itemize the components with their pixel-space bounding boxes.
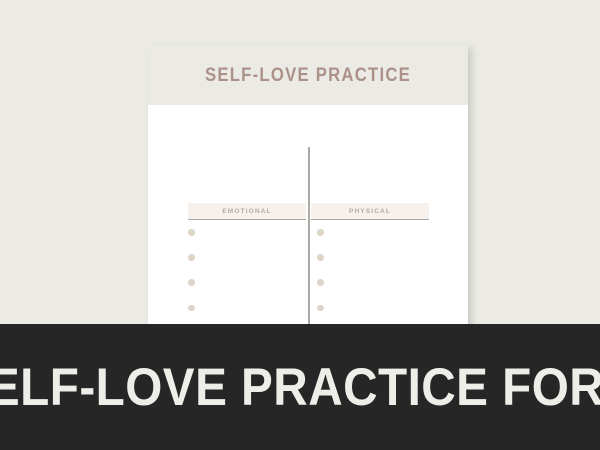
bullet-dot xyxy=(317,229,324,236)
section-rule-emotional xyxy=(188,219,306,220)
bullet-dot xyxy=(317,305,324,312)
section-emotional: EMOTIONAL xyxy=(188,203,306,220)
section-physical: PHYSICAL xyxy=(311,203,429,220)
bullet-dot xyxy=(188,254,195,261)
bullet-dot xyxy=(188,229,195,236)
column-divider xyxy=(308,147,310,335)
section-header-band-emotional: EMOTIONAL xyxy=(188,203,306,219)
section-rule-physical xyxy=(311,219,429,220)
bullet-dot xyxy=(317,279,324,286)
banner-title: SELF-LOVE PRACTICE FORM xyxy=(30,324,570,450)
worksheet-card: SELF-LOVE PRACTICE EMOTIONAL PHYSICAL xyxy=(148,45,468,335)
bullet-dot xyxy=(188,279,195,286)
page-stage: SELF-LOVE PRACTICE EMOTIONAL PHYSICAL xyxy=(0,0,600,450)
bullet-list-emotional xyxy=(188,229,195,335)
bullet-dot xyxy=(188,305,195,312)
section-label-physical: PHYSICAL xyxy=(349,208,391,215)
worksheet-title: SELF-LOVE PRACTICE xyxy=(167,45,449,105)
section-label-emotional: EMOTIONAL xyxy=(222,208,271,215)
worksheet-grid: EMOTIONAL PHYSICAL SPIRITUAL xyxy=(148,105,468,335)
section-header-band-physical: PHYSICAL xyxy=(311,203,429,219)
bullet-dot xyxy=(317,254,324,261)
bottom-banner: SELF-LOVE PRACTICE FORM xyxy=(0,324,600,450)
bullet-list-physical xyxy=(317,229,324,335)
